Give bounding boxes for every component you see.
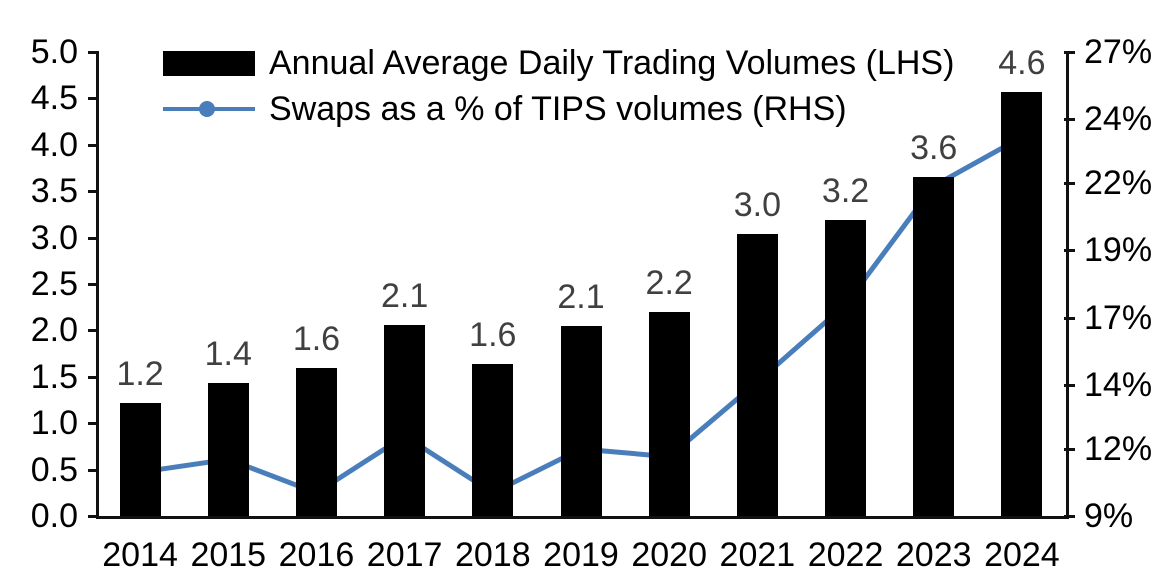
- x-axis-tick-label: 2020: [625, 538, 713, 572]
- bar: [472, 364, 513, 516]
- y-axis-right-tick-label: 9%: [1084, 499, 1133, 533]
- bar-data-label: 1.2: [96, 357, 184, 391]
- bar-data-label: 2.2: [625, 266, 713, 300]
- bar-data-label: 3.6: [890, 131, 978, 165]
- x-axis-tick-label: 2022: [801, 538, 889, 572]
- y-axis-right-tick-label: 19%: [1084, 233, 1152, 267]
- x-axis-tick-label: 2024: [978, 538, 1066, 572]
- y-axis-right-tick-label: 27%: [1084, 35, 1152, 69]
- y-axis-left-tick-label: 2.0: [0, 313, 78, 347]
- bar-data-label: 4.6: [978, 46, 1066, 80]
- y-axis-right-tick-label: 14%: [1084, 368, 1152, 402]
- bar-data-label: 2.1: [537, 280, 625, 314]
- bar-data-label: 3.0: [713, 188, 801, 222]
- y-axis-left-tick-label: 3.0: [0, 221, 78, 255]
- y-axis-right-tick-label: 22%: [1084, 166, 1152, 200]
- chart-container: Annual Average Daily Trading Volumes (LH…: [0, 0, 1152, 584]
- bar: [384, 325, 425, 516]
- bar: [737, 234, 778, 516]
- x-axis-tick-label: 2019: [537, 538, 625, 572]
- bar: [825, 220, 866, 516]
- y-axis-left-tick-label: 2.5: [0, 267, 78, 301]
- bar-data-label: 3.2: [801, 174, 889, 208]
- y-axis-left-tick-label: 1.5: [0, 360, 78, 394]
- y-axis-left-tick-label: 0.5: [0, 453, 78, 487]
- x-axis-tick-label: 2018: [449, 538, 537, 572]
- x-axis-tick-label: 2015: [184, 538, 272, 572]
- y-axis-left-tick-label: 0.0: [0, 499, 78, 533]
- bar: [649, 312, 690, 516]
- y-axis-right-tick-label: 24%: [1084, 102, 1152, 136]
- bar: [1001, 92, 1042, 516]
- bar-data-label: 2.1: [361, 279, 449, 313]
- bar: [561, 326, 602, 516]
- bar: [913, 177, 954, 516]
- x-axis-tick-label: 2021: [713, 538, 801, 572]
- x-axis-tick-label: 2023: [890, 538, 978, 572]
- y-axis-left-tick-label: 5.0: [0, 35, 78, 69]
- x-axis-tick-label: 2017: [361, 538, 449, 572]
- y-axis-left-tick-label: 4.5: [0, 81, 78, 115]
- y-axis-left-tick-label: 3.5: [0, 174, 78, 208]
- bar-data-label: 1.6: [272, 322, 360, 356]
- bar-data-label: 1.6: [449, 318, 537, 352]
- bar-data-label: 1.4: [184, 337, 272, 371]
- bar: [208, 383, 249, 516]
- y-axis-right-tick-label: 17%: [1084, 301, 1152, 335]
- y-axis-right-tick-label: 12%: [1084, 432, 1152, 466]
- bar: [296, 368, 337, 516]
- y-axis-left-tick-label: 1.0: [0, 406, 78, 440]
- x-axis-tick-label: 2016: [272, 538, 360, 572]
- x-axis-line: [96, 516, 1069, 519]
- x-axis-tick-label: 2014: [96, 538, 184, 572]
- y-axis-left-tick-label: 4.0: [0, 128, 78, 162]
- bar: [120, 403, 161, 516]
